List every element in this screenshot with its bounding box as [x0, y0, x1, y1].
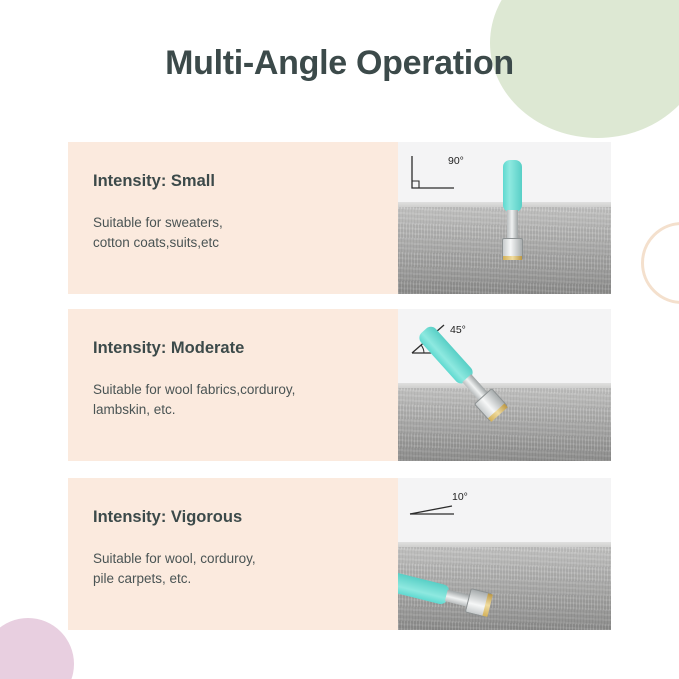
card-description: Suitable for sweaters, cotton coats,suit…	[93, 213, 398, 253]
peach-ring-decoration	[641, 222, 679, 304]
fabric-shaver-tool	[499, 160, 525, 272]
card-text-block: Intensity: Vigorous Suitable for wool, c…	[68, 478, 398, 630]
card-heading: Intensity: Small	[93, 172, 398, 191]
intensity-card: Intensity: Vigorous Suitable for wool, c…	[68, 478, 611, 630]
tool-neck	[507, 210, 518, 240]
card-heading: Intensity: Moderate	[93, 339, 398, 358]
card-description: Suitable for wool fabrics,corduroy, lamb…	[93, 380, 398, 420]
intensity-card: Intensity: Moderate Suitable for wool fa…	[68, 309, 611, 461]
angle-label: 45°	[450, 324, 466, 336]
tool-blade-accent	[503, 256, 522, 260]
card-text-block: Intensity: Moderate Suitable for wool fa…	[68, 309, 398, 461]
card-photo: 10°	[398, 478, 611, 630]
angle-label: 10°	[452, 491, 468, 503]
carpet-edge	[398, 383, 611, 388]
purple-blob-decoration	[0, 618, 74, 679]
card-photo: 45°	[398, 309, 611, 461]
card-heading: Intensity: Vigorous	[93, 508, 398, 527]
carpet-edge	[398, 542, 611, 547]
angle-label: 90°	[448, 155, 464, 167]
tool-handle	[503, 160, 522, 212]
intensity-card: Intensity: Small Suitable for sweaters, …	[68, 142, 611, 294]
card-description: Suitable for wool, corduroy, pile carpet…	[93, 549, 398, 589]
page-title: Multi-Angle Operation	[0, 44, 679, 83]
page-root: Multi-Angle Operation Intensity: Small S…	[0, 0, 679, 679]
card-photo: 90°	[398, 142, 611, 294]
card-text-block: Intensity: Small Suitable for sweaters, …	[68, 142, 398, 294]
